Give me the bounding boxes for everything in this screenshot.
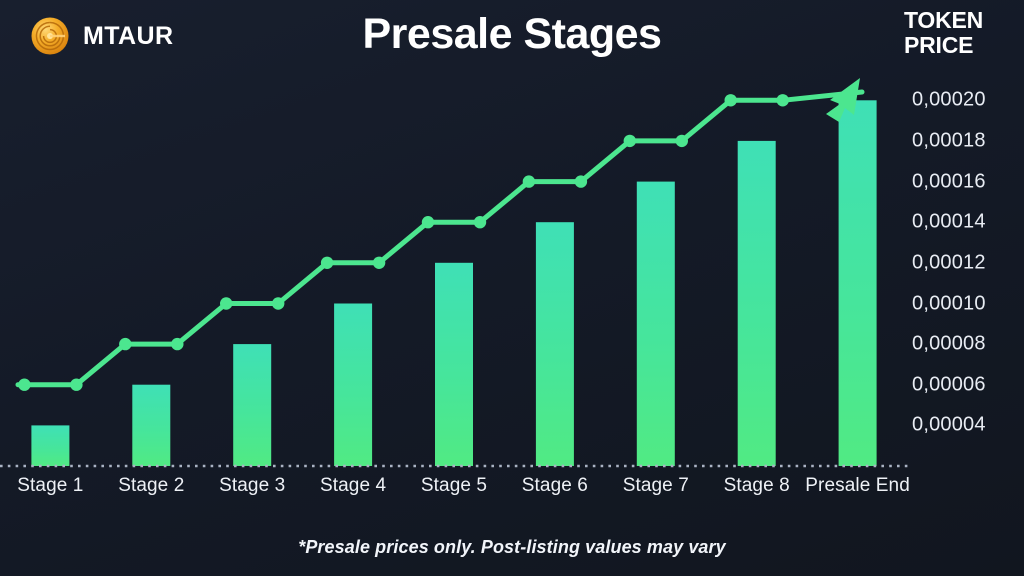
bar-series xyxy=(31,100,876,466)
data-point-marker xyxy=(272,297,284,309)
page-title: Presale Stages xyxy=(0,10,1024,59)
bar xyxy=(31,425,69,466)
x-axis-tick-label: Stage 3 xyxy=(198,474,306,498)
data-point-marker xyxy=(373,257,385,269)
x-axis-tick-labels: Stage 1Stage 2Stage 3Stage 4Stage 5Stage… xyxy=(0,474,908,534)
infographic-canvas: MTAUR Presale Stages TOKEN PRICE 0,00020… xyxy=(0,0,1024,576)
data-point-marker xyxy=(474,216,486,228)
y-axis-tick-label: 0,00008 xyxy=(912,333,986,356)
y-axis-tick-labels: 0,000200,000180,000160,000140,000120,000… xyxy=(912,70,1024,470)
y-axis-tick-label: 0,00010 xyxy=(912,292,986,315)
data-point-marker xyxy=(523,175,535,187)
y-axis-tick-label: 0,00012 xyxy=(912,251,986,274)
bar xyxy=(233,344,271,466)
data-point-marker xyxy=(18,379,30,391)
bar xyxy=(637,182,675,466)
data-point-marker xyxy=(777,94,789,106)
bar xyxy=(334,304,372,467)
x-axis-tick-label: Stage 4 xyxy=(299,474,407,498)
y-axis-title-line2: PRICE xyxy=(904,33,1016,58)
data-point-marker xyxy=(725,94,737,106)
bar xyxy=(132,385,170,466)
data-point-marker xyxy=(119,338,131,350)
footnote-disclaimer: *Presale prices only. Post-listing value… xyxy=(0,537,1024,558)
y-axis-tick-label: 0,00014 xyxy=(912,211,986,234)
y-axis-tick-label: 0,00004 xyxy=(912,414,986,437)
y-axis-tick-label: 0,00020 xyxy=(912,89,986,112)
data-point-marker xyxy=(575,175,587,187)
y-axis-tick-label: 0,00018 xyxy=(912,129,986,152)
data-point-marker xyxy=(321,257,333,269)
x-axis-tick-label: Stage 7 xyxy=(602,474,710,498)
x-axis-tick-label: Stage 2 xyxy=(97,474,205,498)
plot-area xyxy=(0,70,908,470)
data-point-marker xyxy=(676,135,688,147)
x-axis-tick-label: Stage 8 xyxy=(703,474,811,498)
data-point-marker xyxy=(70,379,82,391)
bar xyxy=(536,222,574,466)
x-axis-tick-label: Stage 5 xyxy=(400,474,508,498)
bar xyxy=(839,100,877,466)
bar xyxy=(738,141,776,466)
data-point-marker xyxy=(220,297,232,309)
x-axis-tick-label: Stage 6 xyxy=(501,474,609,498)
y-axis-tick-label: 0,00006 xyxy=(912,373,986,396)
data-point-marker xyxy=(171,338,183,350)
chart-svg xyxy=(0,70,908,470)
y-axis-tick-label: 0,00016 xyxy=(912,170,986,193)
bar xyxy=(435,263,473,466)
data-point-marker xyxy=(422,216,434,228)
x-axis-tick-label: Stage 1 xyxy=(0,474,104,498)
y-axis-title: TOKEN PRICE xyxy=(904,8,1016,58)
data-point-marker xyxy=(624,135,636,147)
x-axis-tick-label: Presale End xyxy=(804,474,912,498)
y-axis-title-line1: TOKEN xyxy=(904,8,1016,33)
